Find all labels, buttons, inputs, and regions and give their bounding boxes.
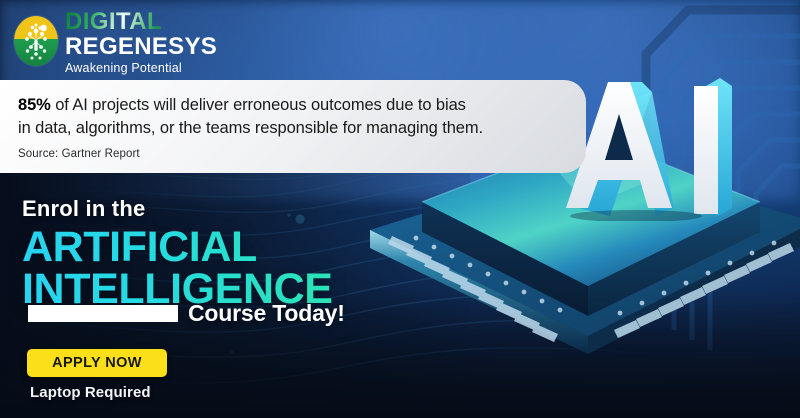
statistic-line-1-rest: of AI projects will deliver erroneous ou… [51,96,466,114]
ai-3d-letters-icon [556,76,756,221]
statistic-line-1: 85% of AI projects will deliver erroneou… [18,94,578,117]
tree-emblem-icon [14,16,58,66]
hero-title-line-1: ARTIFICIAL [22,226,442,268]
apply-now-button[interactable]: APPLY NOW [27,349,167,377]
course-today-row: Course Today! [28,300,345,327]
ai-course-banner: DIGITAL REGENESYS Awakening Potential 85… [0,0,800,418]
statistic-value: 85% [18,96,51,114]
statistic-line-2: in data, algorithms, or the teams respon… [18,117,578,140]
hero-title: ARTIFICIAL INTELLIGENCE [22,226,442,310]
statistic-panel: 85% of AI projects will deliver erroneou… [0,80,586,173]
brand-logo[interactable]: DIGITAL REGENESYS Awakening Potential [14,8,217,75]
statistic-source: Source: Gartner Report [18,148,586,160]
laptop-required-note: Laptop Required [30,384,151,401]
hero-eyebrow: Enrol in the [22,196,442,222]
logo-word-regenesys: REGENESYS [65,35,217,59]
hero-headline: Enrol in the ARTIFICIAL INTELLIGENCE [22,196,442,310]
logo-tagline: Awakening Potential [65,62,217,75]
decorative-white-bar [28,305,178,322]
course-today-label: Course Today! [188,300,345,327]
logo-word-digital: DIGITAL [65,10,217,34]
